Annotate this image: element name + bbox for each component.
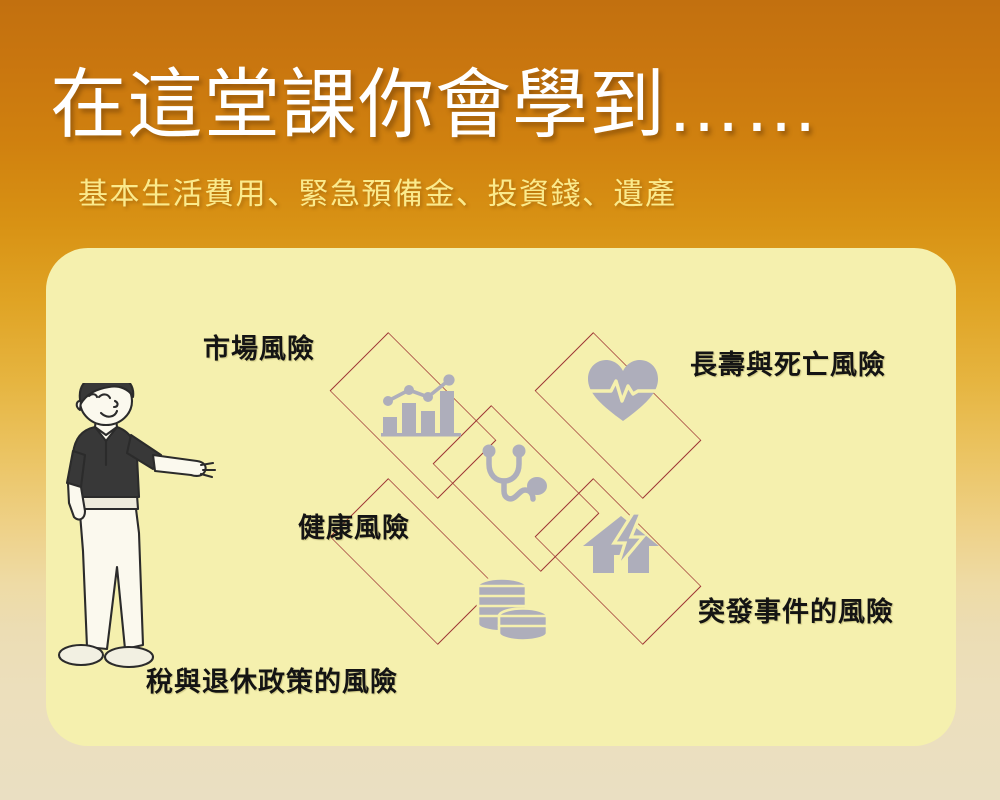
content-card: 市場風險 長壽與死亡風險 健康風險 突發事件的風險 稅與退休政策的風險 (46, 248, 956, 746)
house-lightning-icon (581, 513, 661, 580)
risk-label-longevity: 長壽與死亡風險 (690, 343, 886, 382)
page-title: 在這堂課你會學到…… (50, 62, 820, 150)
risk-label-sudden: 突發事件的風險 (698, 590, 894, 629)
risk-diamond-grid: 市場風險 長壽與死亡風險 健康風險 突發事件的風險 稅與退休政策的風險 (46, 248, 956, 746)
page-subtitle: 基本生活費用、緊急預備金、投資錢、遺產 (78, 175, 677, 215)
stethoscope-icon (481, 444, 559, 511)
bar-chart-growth-icon (381, 373, 463, 442)
heart-pulse-icon (586, 358, 660, 429)
risk-label-health: 健康風險 (298, 506, 410, 545)
coin-stack-icon (476, 578, 550, 645)
header: 在這堂課你會學到…… 基本生活費用、緊急預備金、投資錢、遺產 (0, 0, 1000, 248)
risk-label-market: 市場風險 (203, 327, 315, 366)
slide-background: 在這堂課你會學到…… 基本生活費用、緊急預備金、投資錢、遺產 (0, 0, 1000, 800)
man-presenting-icon (51, 383, 236, 678)
